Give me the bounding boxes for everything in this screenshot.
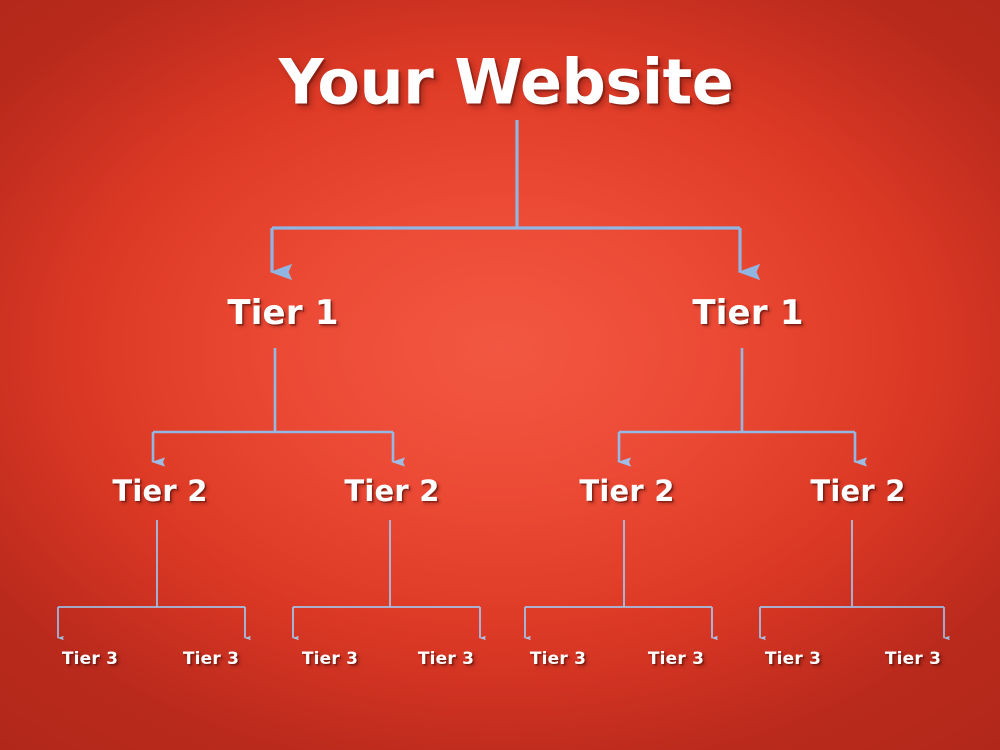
node-tier2-3: Tier 2: [579, 474, 674, 508]
node-tier3-3: Tier 3: [302, 649, 358, 669]
node-tier1-2: Tier 1: [692, 293, 803, 333]
node-tier3-5: Tier 3: [530, 649, 586, 669]
node-tier3-1: Tier 3: [62, 649, 118, 669]
node-tier2-2: Tier 2: [344, 474, 439, 508]
diagram-canvas: Your Website Tier 1 Tier 1 Tier 2 Tier 2…: [0, 0, 1000, 750]
node-tier3-2: Tier 3: [183, 649, 239, 669]
node-root: Your Website: [279, 46, 734, 119]
node-tier3-4: Tier 3: [418, 649, 474, 669]
node-tier3-8: Tier 3: [885, 649, 941, 669]
node-tier2-4: Tier 2: [810, 474, 905, 508]
node-tier2-1: Tier 2: [112, 474, 207, 508]
node-tier3-7: Tier 3: [765, 649, 821, 669]
node-tier1-1: Tier 1: [227, 293, 338, 333]
node-tier3-6: Tier 3: [648, 649, 704, 669]
